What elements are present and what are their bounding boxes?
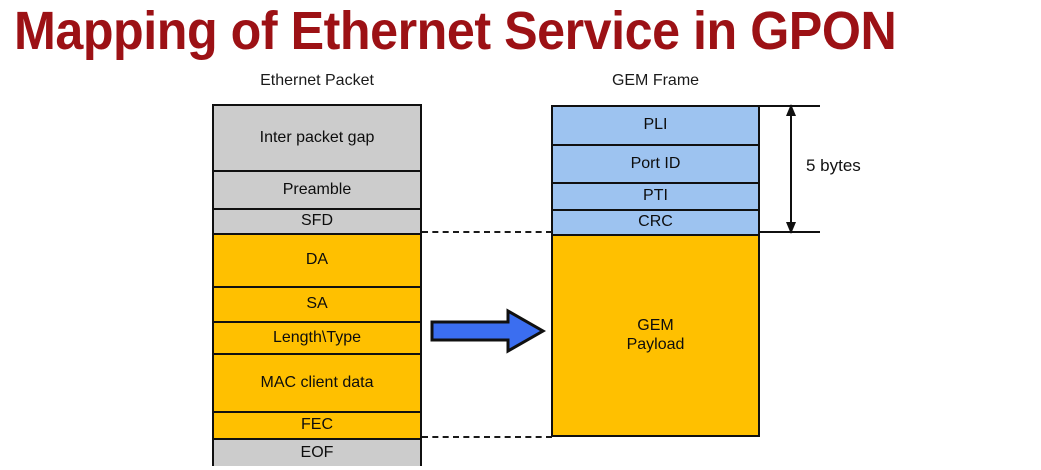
field-fec: FEC xyxy=(214,413,420,440)
field-preamble: Preamble xyxy=(214,172,420,210)
mapping-arrow-icon xyxy=(430,308,546,354)
ethernet-packet-stack: Inter packet gap Preamble SFD DA SA Leng… xyxy=(212,104,422,466)
gem-payload-line-1: GEM xyxy=(637,317,673,335)
ethernet-column-caption: Ethernet Packet xyxy=(212,72,422,90)
field-inter-packet-gap: Inter packet gap xyxy=(214,106,420,172)
field-eof: EOF xyxy=(214,440,420,466)
field-mac-client-data: MAC client data xyxy=(214,355,420,413)
gem-frame-stack: PLI Port ID PTI CRC GEM Payload xyxy=(551,105,760,437)
gem-column-caption: GEM Frame xyxy=(551,72,760,90)
field-da: DA xyxy=(214,235,420,288)
slide-canvas: Mapping of Ethernet Service in GPON Ethe… xyxy=(0,0,1041,470)
dashed-connector-top xyxy=(422,231,552,233)
field-pli: PLI xyxy=(553,107,758,146)
field-gem-payload: GEM Payload xyxy=(553,236,758,435)
field-pti: PTI xyxy=(553,184,758,211)
dashed-connector-bottom xyxy=(422,436,552,438)
field-crc: CRC xyxy=(553,211,758,236)
field-sfd: SFD xyxy=(214,210,420,235)
dimension-arrow-icon xyxy=(784,103,798,235)
field-length-type: Length\Type xyxy=(214,323,420,355)
field-port-id: Port ID xyxy=(553,146,758,184)
header-size-label: 5 bytes xyxy=(806,156,861,176)
field-sa: SA xyxy=(214,288,420,323)
page-title: Mapping of Ethernet Service in GPON xyxy=(14,0,972,64)
gem-payload-line-2: Payload xyxy=(627,336,685,354)
